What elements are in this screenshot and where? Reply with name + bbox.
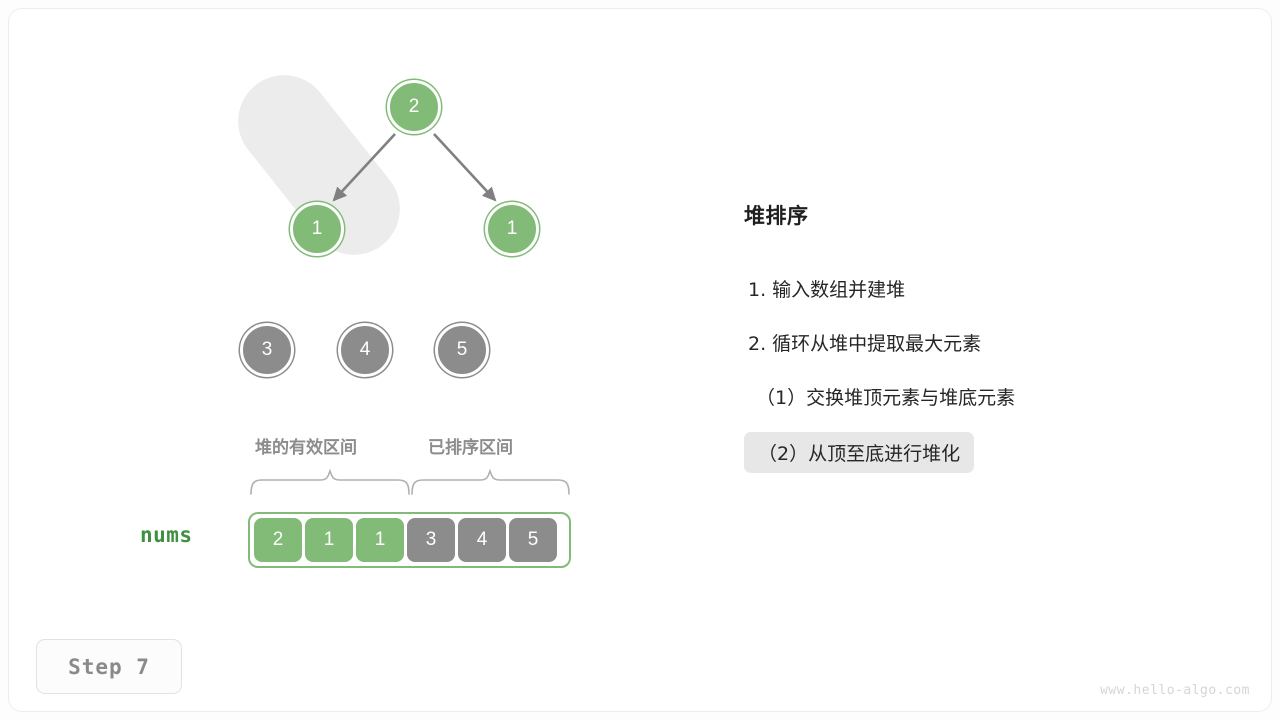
array-name-label: nums — [140, 523, 193, 547]
brace-heap — [251, 471, 409, 494]
panel-title: 堆排序 — [744, 200, 1214, 230]
site-watermark: www.hello-algo.com — [1100, 683, 1250, 698]
array-cell[interactable]: 5 — [509, 518, 557, 562]
panel-row: （1）交换堆顶元素与堆底元素 — [744, 378, 1214, 432]
array-cell[interactable]: 1 — [356, 518, 404, 562]
array-cell-value: 3 — [426, 529, 437, 551]
array-cell-value: 1 — [375, 529, 386, 551]
array-cell-value: 5 — [528, 529, 539, 551]
array-cell-value: 4 — [477, 529, 488, 551]
panel-row: 2. 循环从堆中提取最大元素 — [744, 324, 1214, 378]
array-cell-value: 1 — [324, 529, 335, 551]
panel-row: （2）从顶至底进行堆化 — [744, 432, 1214, 490]
step-item-2-2[interactable]: （2）从顶至底进行堆化 — [744, 432, 974, 473]
array-cell[interactable]: 2 — [254, 518, 302, 562]
array-cell[interactable]: 3 — [407, 518, 455, 562]
illustration-canvas: 2 1 1 3 4 5 堆的有效区间 已排序区间 nums 2 1 — [0, 0, 1280, 720]
array-cell[interactable]: 1 — [305, 518, 353, 562]
array-cell-value: 2 — [273, 529, 284, 551]
algorithm-steps-panel: 堆排序 1. 输入数组并建堆 2. 循环从堆中提取最大元素 （1）交换堆顶元素与… — [744, 200, 1214, 490]
brace-sorted — [412, 471, 569, 494]
step-badge-label: Step 7 — [68, 655, 150, 679]
panel-row: 1. 输入数组并建堆 — [744, 270, 1214, 324]
step-badge: Step 7 — [36, 639, 182, 694]
nums-array: 2 1 1 3 4 5 — [248, 512, 571, 568]
step-item-2[interactable]: 2. 循环从堆中提取最大元素 — [744, 324, 985, 361]
step-item-1[interactable]: 1. 输入数组并建堆 — [744, 270, 909, 307]
step-item-2-1[interactable]: （1）交换堆顶元素与堆底元素 — [752, 378, 1019, 415]
array-cell[interactable]: 4 — [458, 518, 506, 562]
